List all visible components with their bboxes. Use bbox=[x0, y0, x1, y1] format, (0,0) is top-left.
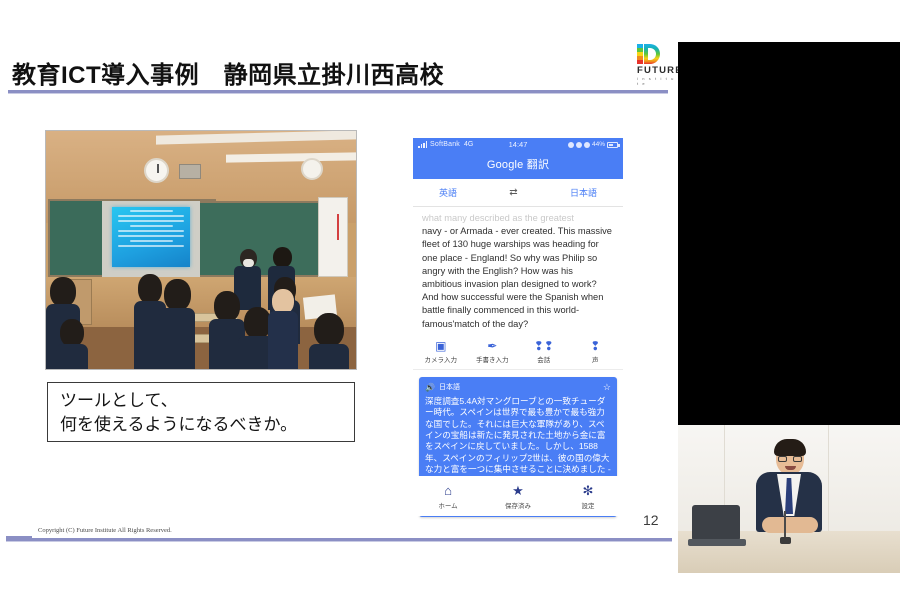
future-institute-logo: FUTURE i n s t i t u t e bbox=[637, 42, 679, 84]
source-text-clipped: what many described as the greatest bbox=[422, 212, 614, 225]
classroom-photo bbox=[45, 130, 357, 370]
input-mode-handwriting[interactable]: ✒ 手書き入力 bbox=[467, 339, 519, 364]
tab-saved[interactable]: ★ 保存済み bbox=[483, 484, 552, 510]
webcam-laptop bbox=[692, 505, 744, 547]
webcam-wall-seam-2 bbox=[828, 425, 829, 533]
video-panel-background bbox=[678, 42, 900, 425]
presenter-hands bbox=[762, 517, 818, 533]
caption-line-2: 何を使えるようになるべきか。 bbox=[60, 413, 344, 437]
star-outline-icon[interactable]: ☆ bbox=[603, 382, 611, 393]
presenter-head bbox=[776, 443, 804, 475]
status-right-cluster: 44% bbox=[568, 141, 618, 148]
photo-projected-slide bbox=[112, 207, 190, 267]
pen-icon: ✒ bbox=[467, 339, 519, 353]
desk-microphone bbox=[780, 511, 790, 545]
target-language-button[interactable]: 日本語 bbox=[570, 186, 597, 199]
star-icon: ★ bbox=[483, 484, 552, 498]
footer-divider bbox=[6, 538, 672, 541]
wifi-icon bbox=[576, 142, 582, 148]
laptop-screen bbox=[692, 505, 740, 541]
app-title-bar: Google 翻訳 bbox=[413, 151, 623, 179]
tab-home-label: ホーム bbox=[413, 500, 482, 510]
battery-icon bbox=[607, 142, 618, 148]
photo-student-9 bbox=[60, 319, 88, 370]
source-text-body: navy - or Armada - ever created. This ma… bbox=[422, 225, 614, 331]
logo-bars-icon bbox=[637, 44, 643, 64]
translation-language-label: 日本語 bbox=[439, 382, 460, 392]
photo-student-3 bbox=[164, 279, 195, 370]
slide-caption-box: ツールとして、 何を使えるようになるべきか。 bbox=[47, 382, 355, 442]
two-mics-icon: ❢❢ bbox=[518, 339, 570, 353]
photo-student-7 bbox=[272, 289, 298, 369]
logo-d-icon bbox=[644, 44, 660, 64]
google-translate-phone-screenshot: SoftBank 4G 14:47 44% Google 翻訳 英語 ⇄ 日本語… bbox=[413, 138, 623, 516]
home-icon: ⌂ bbox=[413, 484, 482, 498]
title-divider bbox=[8, 90, 668, 93]
microphone-icon: ❢ bbox=[570, 339, 622, 353]
bottom-tab-bar: ⌂ ホーム ★ 保存済み ✻ 設定 bbox=[413, 476, 623, 516]
screen-capture: 教育ICT導入事例 静岡県立掛川西高校 FUTURE i n s t i t u… bbox=[0, 0, 900, 600]
presenter-webcam-feed[interactable] bbox=[678, 425, 900, 573]
speaker-icon[interactable]: 🔊 bbox=[425, 383, 435, 392]
alarm-icon bbox=[584, 142, 590, 148]
input-mode-row: ▣ カメラ入力 ✒ 手書き入力 ❢❢ 会話 ❢ 声 bbox=[413, 335, 623, 370]
gear-icon: ✻ bbox=[553, 484, 622, 498]
location-icon bbox=[568, 142, 574, 148]
photo-wall-clock-2 bbox=[301, 158, 323, 180]
input-mode-camera-label: カメラ入力 bbox=[415, 354, 467, 364]
logo-mark bbox=[637, 42, 679, 64]
photo-student-8 bbox=[314, 313, 349, 370]
footer-dash-left bbox=[6, 536, 32, 540]
input-mode-handwriting-label: 手書き入力 bbox=[467, 354, 519, 364]
tab-home[interactable]: ⌂ ホーム bbox=[413, 484, 482, 510]
photo-projector-screen bbox=[102, 201, 200, 277]
swap-horizontal-icon[interactable]: ⇄ bbox=[509, 187, 517, 198]
battery-percent-label: 44% bbox=[592, 141, 605, 148]
laptop-base bbox=[688, 539, 746, 546]
input-mode-conversation[interactable]: ❢❢ 会話 bbox=[518, 339, 570, 364]
logo-name: FUTURE bbox=[637, 65, 679, 76]
photo-blackboard-right bbox=[198, 201, 326, 277]
photo-wall-clock bbox=[144, 158, 169, 183]
language-selector-bar[interactable]: 英語 ⇄ 日本語 bbox=[413, 179, 623, 207]
input-mode-conversation-label: 会話 bbox=[518, 354, 570, 364]
presenter-mouth bbox=[785, 466, 796, 470]
translation-card-header: 🔊 日本語 ☆ bbox=[425, 382, 611, 393]
tab-settings[interactable]: ✻ 設定 bbox=[553, 484, 622, 510]
logo-subtitle: i n s t i t u t e bbox=[637, 76, 679, 86]
source-text-area[interactable]: what many described as the greatest navy… bbox=[413, 207, 623, 335]
caption-line-1: ツールとして、 bbox=[60, 389, 344, 413]
glasses-icon bbox=[778, 456, 802, 462]
input-mode-voice[interactable]: ❢ 声 bbox=[570, 339, 622, 364]
input-mode-voice-label: 声 bbox=[570, 354, 622, 364]
photo-whiteboard bbox=[318, 197, 348, 277]
copyright-notice: Copyright (C) Future Institute All Right… bbox=[34, 527, 176, 534]
camera-icon: ▣ bbox=[415, 339, 467, 353]
input-mode-camera[interactable]: ▣ カメラ入力 bbox=[415, 339, 467, 364]
source-language-button[interactable]: 英語 bbox=[439, 186, 457, 199]
tab-settings-label: 設定 bbox=[553, 500, 622, 510]
presentation-slide: 教育ICT導入事例 静岡県立掛川西高校 FUTURE i n s t i t u… bbox=[0, 0, 678, 552]
phone-status-bar: SoftBank 4G 14:47 44% bbox=[413, 138, 623, 151]
tab-saved-label: 保存済み bbox=[483, 500, 552, 510]
presenter-hair bbox=[774, 439, 806, 456]
page-title: 教育ICT導入事例 静岡県立掛川西高校 bbox=[12, 55, 444, 90]
slide-page-number: 12 bbox=[643, 512, 659, 528]
photo-wall-speaker bbox=[179, 164, 201, 179]
